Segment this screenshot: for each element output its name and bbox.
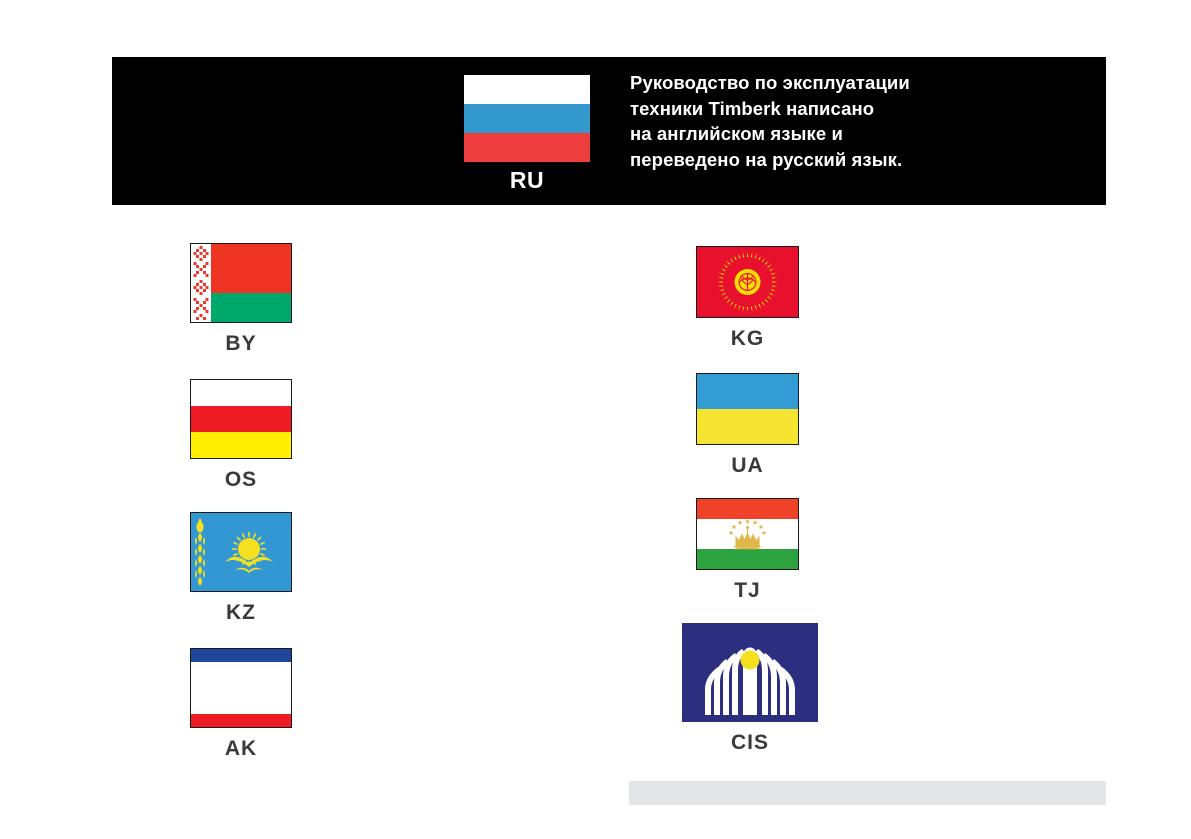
south-ossetia-flag [190,379,292,459]
crimea-flag [190,648,292,728]
flag-label-ua: UA [696,455,799,476]
flag-cell-ua: UA [696,373,799,476]
flag-cell-os: OS [190,379,292,490]
tajikistan-flag [696,498,799,570]
ukraine-flag [696,373,799,445]
ua-stripe-blue [697,374,798,409]
ak-stripe-blue [191,649,291,662]
flag-cell-tj: TJ [696,498,799,601]
tj-crown-stars-icon [697,499,798,569]
flag-label-kg: KG [696,328,799,349]
os-stripe-white [191,380,291,406]
flag-cell-by: BY [190,243,292,354]
kyrgyzstan-flag [696,246,799,318]
ak-stripe-red [191,714,291,727]
by-ornament-icon [191,244,211,322]
by-ornament-stripe [191,244,211,322]
banner-flag-label: RU [464,169,590,192]
kg-sun-icon [697,247,798,317]
cis-flag [682,623,818,722]
flag-cell-ak: AK [190,648,292,759]
kazakhstan-flag [190,512,292,592]
language-notice-text: Руководство по эксплуатации техники Timb… [630,70,910,172]
russia-flag [464,75,590,162]
flag-label-ak: AK [190,738,292,759]
flag-label-kz: KZ [190,602,292,623]
os-stripe-yellow [191,432,291,458]
flag-cell-cis: CIS [682,623,818,753]
flag-stripe-red [464,133,590,162]
kz-emblem-icon [191,513,291,591]
flag-label-cis: CIS [682,732,818,753]
language-notice-banner: RU Руководство по эксплуатации техники T… [112,57,1106,205]
cis-emblem-icon [682,623,818,722]
flag-label-tj: TJ [696,580,799,601]
by-red-field [211,244,291,293]
flag-label-by: BY [190,333,292,354]
flag-cell-kz: KZ [190,512,292,623]
banner-flag-group: RU [464,75,590,192]
flag-stripe-white [464,75,590,104]
flag-cell-kg: KG [696,246,799,349]
flag-stripe-blue [464,104,590,133]
belarus-flag [190,243,292,323]
os-stripe-red [191,406,291,432]
ak-stripe-white [191,662,291,713]
ua-stripe-yellow [697,409,798,444]
footer-bar [629,781,1106,805]
flag-label-os: OS [190,469,292,490]
by-green-field [211,293,291,322]
